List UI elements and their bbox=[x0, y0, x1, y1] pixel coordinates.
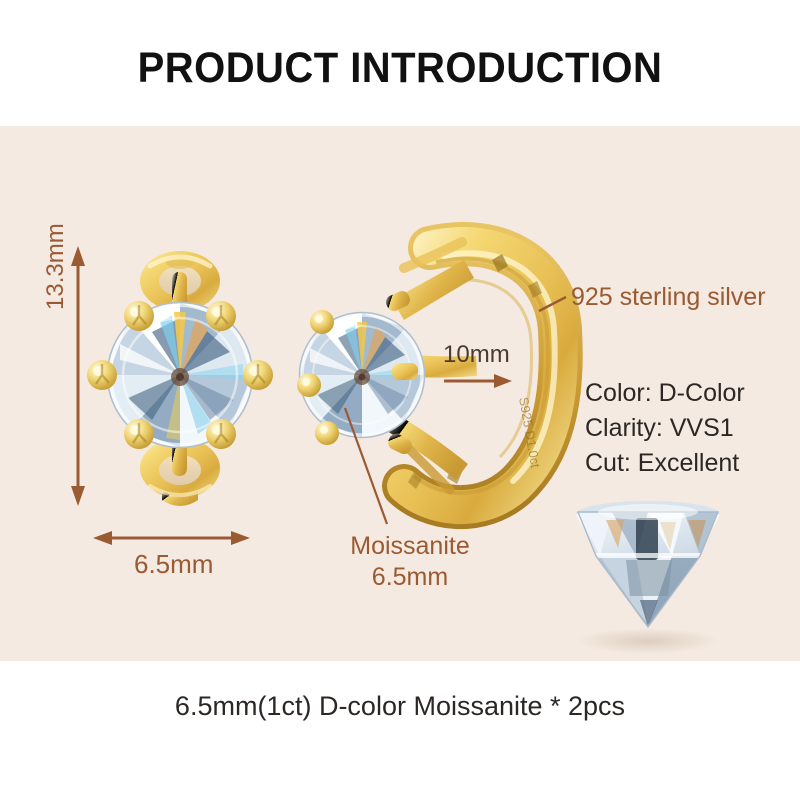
spec-color: Color: D-Color bbox=[585, 376, 745, 411]
stone-specs: Color: D-Color Clarity: VVS1 Cut: Excell… bbox=[585, 376, 745, 481]
height-label: 13.3mm bbox=[42, 223, 70, 310]
width-label: 6.5mm bbox=[134, 549, 213, 580]
moissanite-label-line1: Moissanite bbox=[310, 531, 510, 562]
material-label: 925 sterling silver bbox=[571, 283, 766, 312]
product-caption: 6.5mm(1ct) D-color Moissanite * 2pcs bbox=[0, 691, 800, 722]
infographic-canvas: PRODUCT INTRODUCTION bbox=[0, 0, 800, 800]
moissanite-label-line2: 6.5mm bbox=[310, 562, 510, 593]
page-title: PRODUCT INTRODUCTION bbox=[28, 44, 772, 93]
moissanite-label: Moissanite 6.5mm bbox=[310, 531, 510, 593]
inner-diameter-label: 10mm bbox=[443, 341, 510, 369]
spec-clarity: Clarity: VVS1 bbox=[585, 411, 745, 446]
spec-cut: Cut: Excellent bbox=[585, 446, 745, 481]
